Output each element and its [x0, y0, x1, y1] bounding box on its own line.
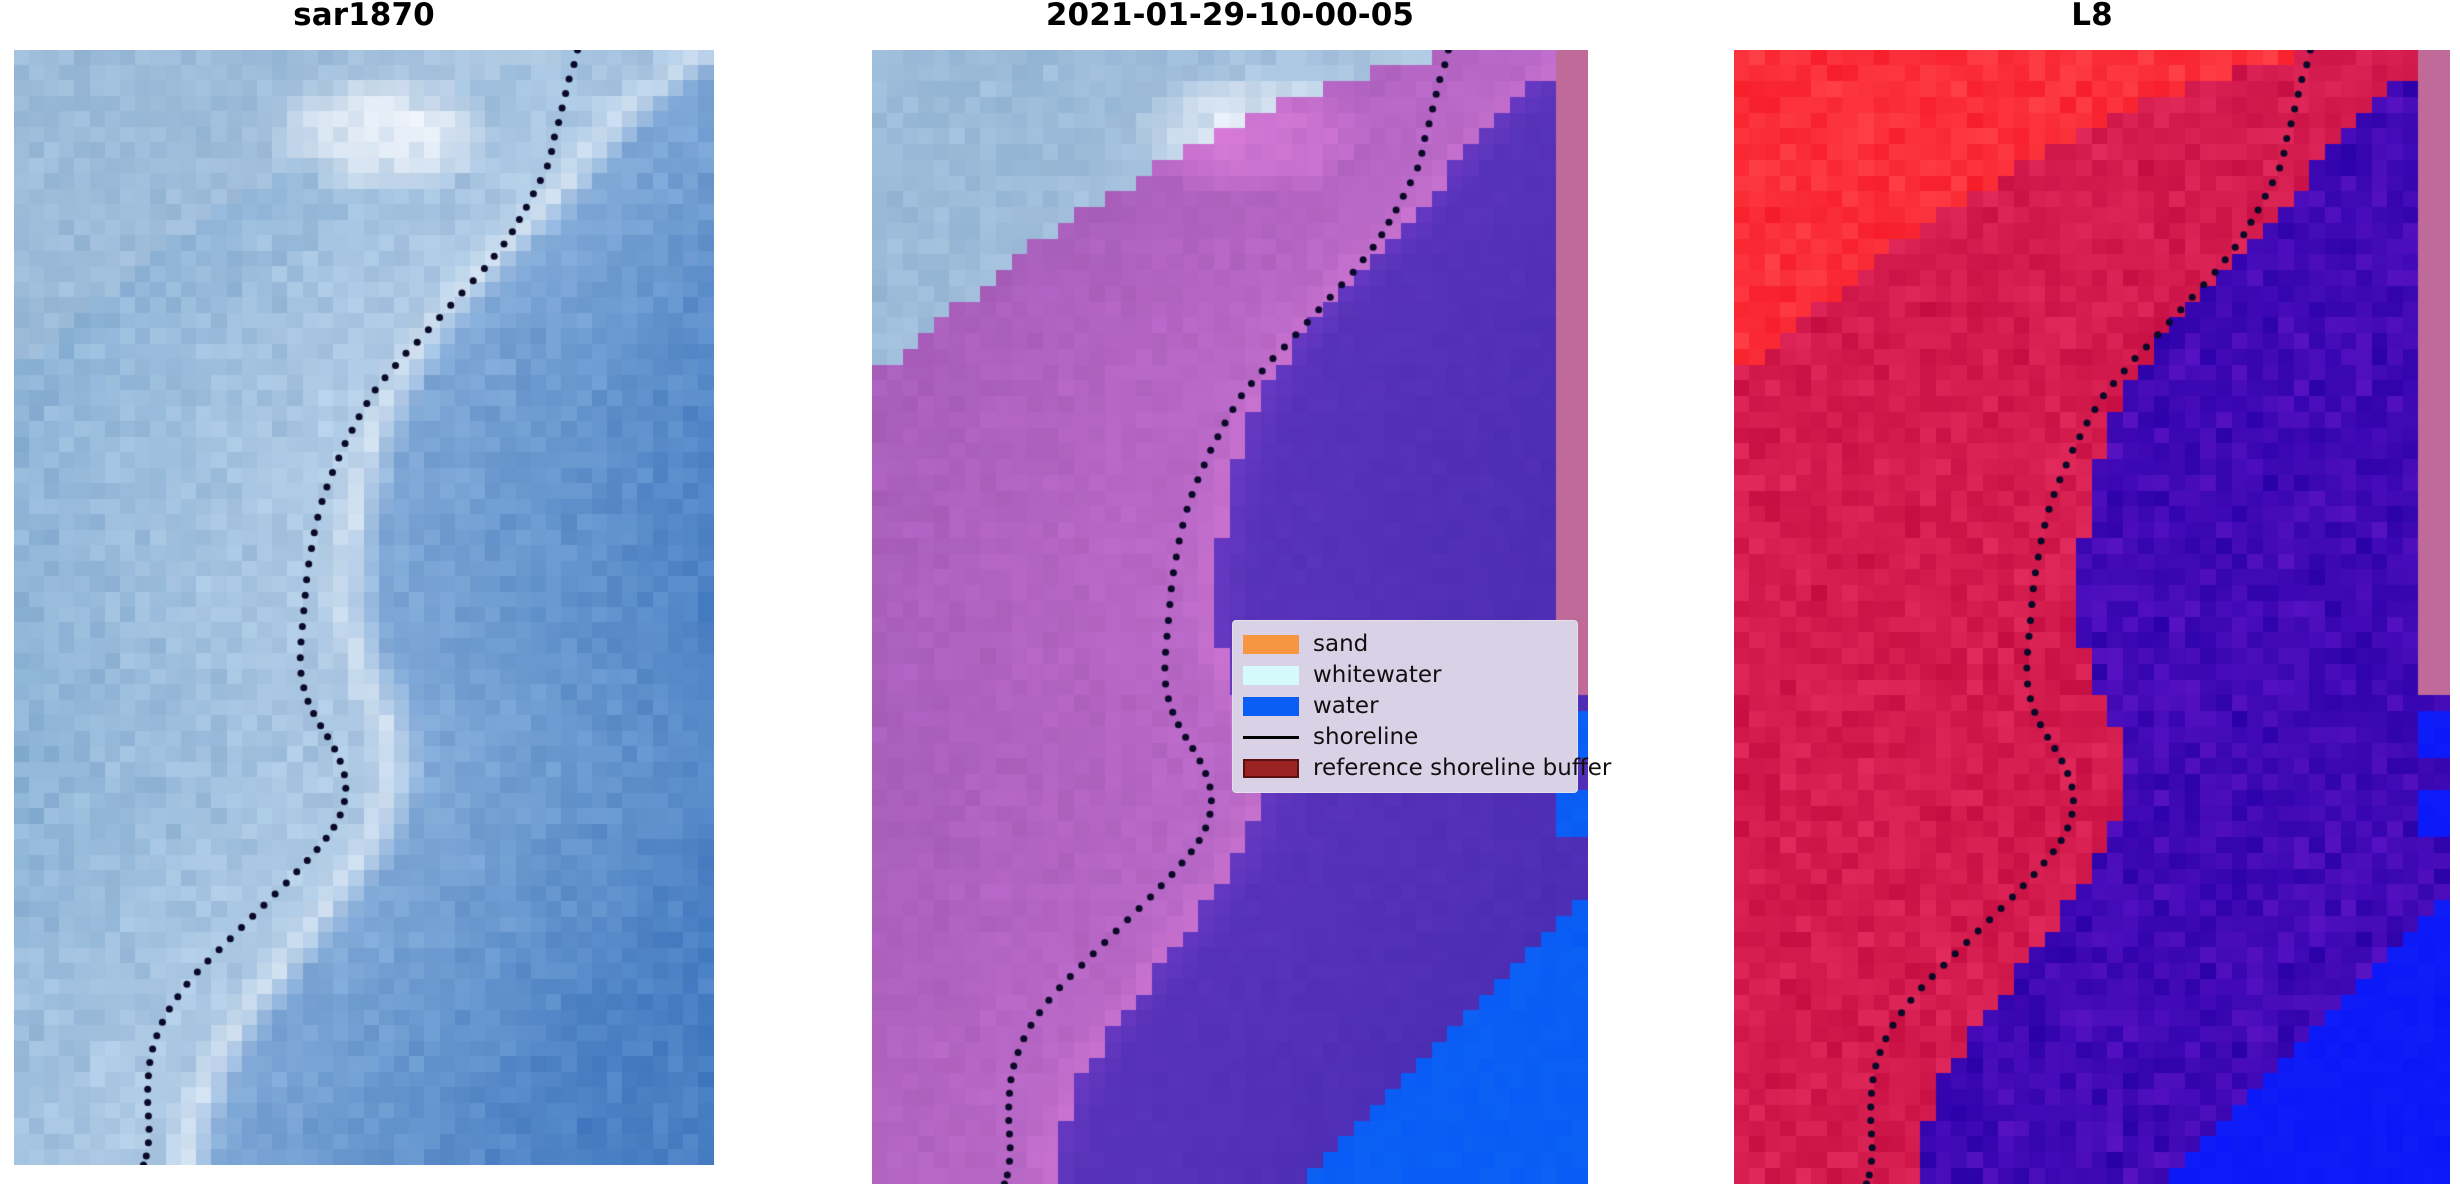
satellite-image-panel-sar1870[interactable]: sar1870 — [14, 0, 714, 1184]
legend-swatch-icon — [1243, 697, 1299, 716]
legend-item-label: whitewater — [1313, 664, 1441, 687]
legend-item-label: water — [1313, 695, 1379, 718]
panel-image-panel-sar1870[interactable] — [14, 50, 714, 1165]
panel-title: 2021-01-29-10-00-05 — [872, 0, 1588, 31]
legend-swatch-icon — [1243, 635, 1299, 654]
legend-item-label: shoreline — [1313, 726, 1418, 749]
satellite-image-panel-l8[interactable]: L8 — [1734, 0, 2450, 1184]
panel-image-panel-2021-01-29[interactable] — [872, 50, 1588, 1184]
satellite-image-panel-classified[interactable]: 2021-01-29-10-00-05 — [872, 0, 1588, 1184]
panel-image-panel-l8[interactable] — [1734, 50, 2450, 1184]
map-legend: sandwhitewaterwatershorelinereference sh… — [1232, 620, 1578, 793]
legend-item-shoreline[interactable]: shoreline — [1243, 722, 1567, 753]
legend-item-sand[interactable]: sand — [1243, 629, 1567, 660]
legend-item-whitewater[interactable]: whitewater — [1243, 660, 1567, 691]
legend-item-reference-shoreline-buffer[interactable]: reference shoreline buffer — [1243, 753, 1567, 784]
legend-swatch-icon — [1243, 666, 1299, 685]
panel-title: sar1870 — [14, 0, 714, 31]
figure-root: sar18702021-01-29-10-00-05L8sandwhitewat… — [0, 0, 2460, 1184]
legend-item-water[interactable]: water — [1243, 691, 1567, 722]
panel-title: L8 — [1734, 0, 2450, 31]
legend-item-label: reference shoreline buffer — [1313, 757, 1611, 780]
legend-item-label: sand — [1313, 633, 1368, 656]
shoreline-line-icon — [1243, 728, 1299, 747]
legend-swatch-icon — [1243, 759, 1299, 778]
